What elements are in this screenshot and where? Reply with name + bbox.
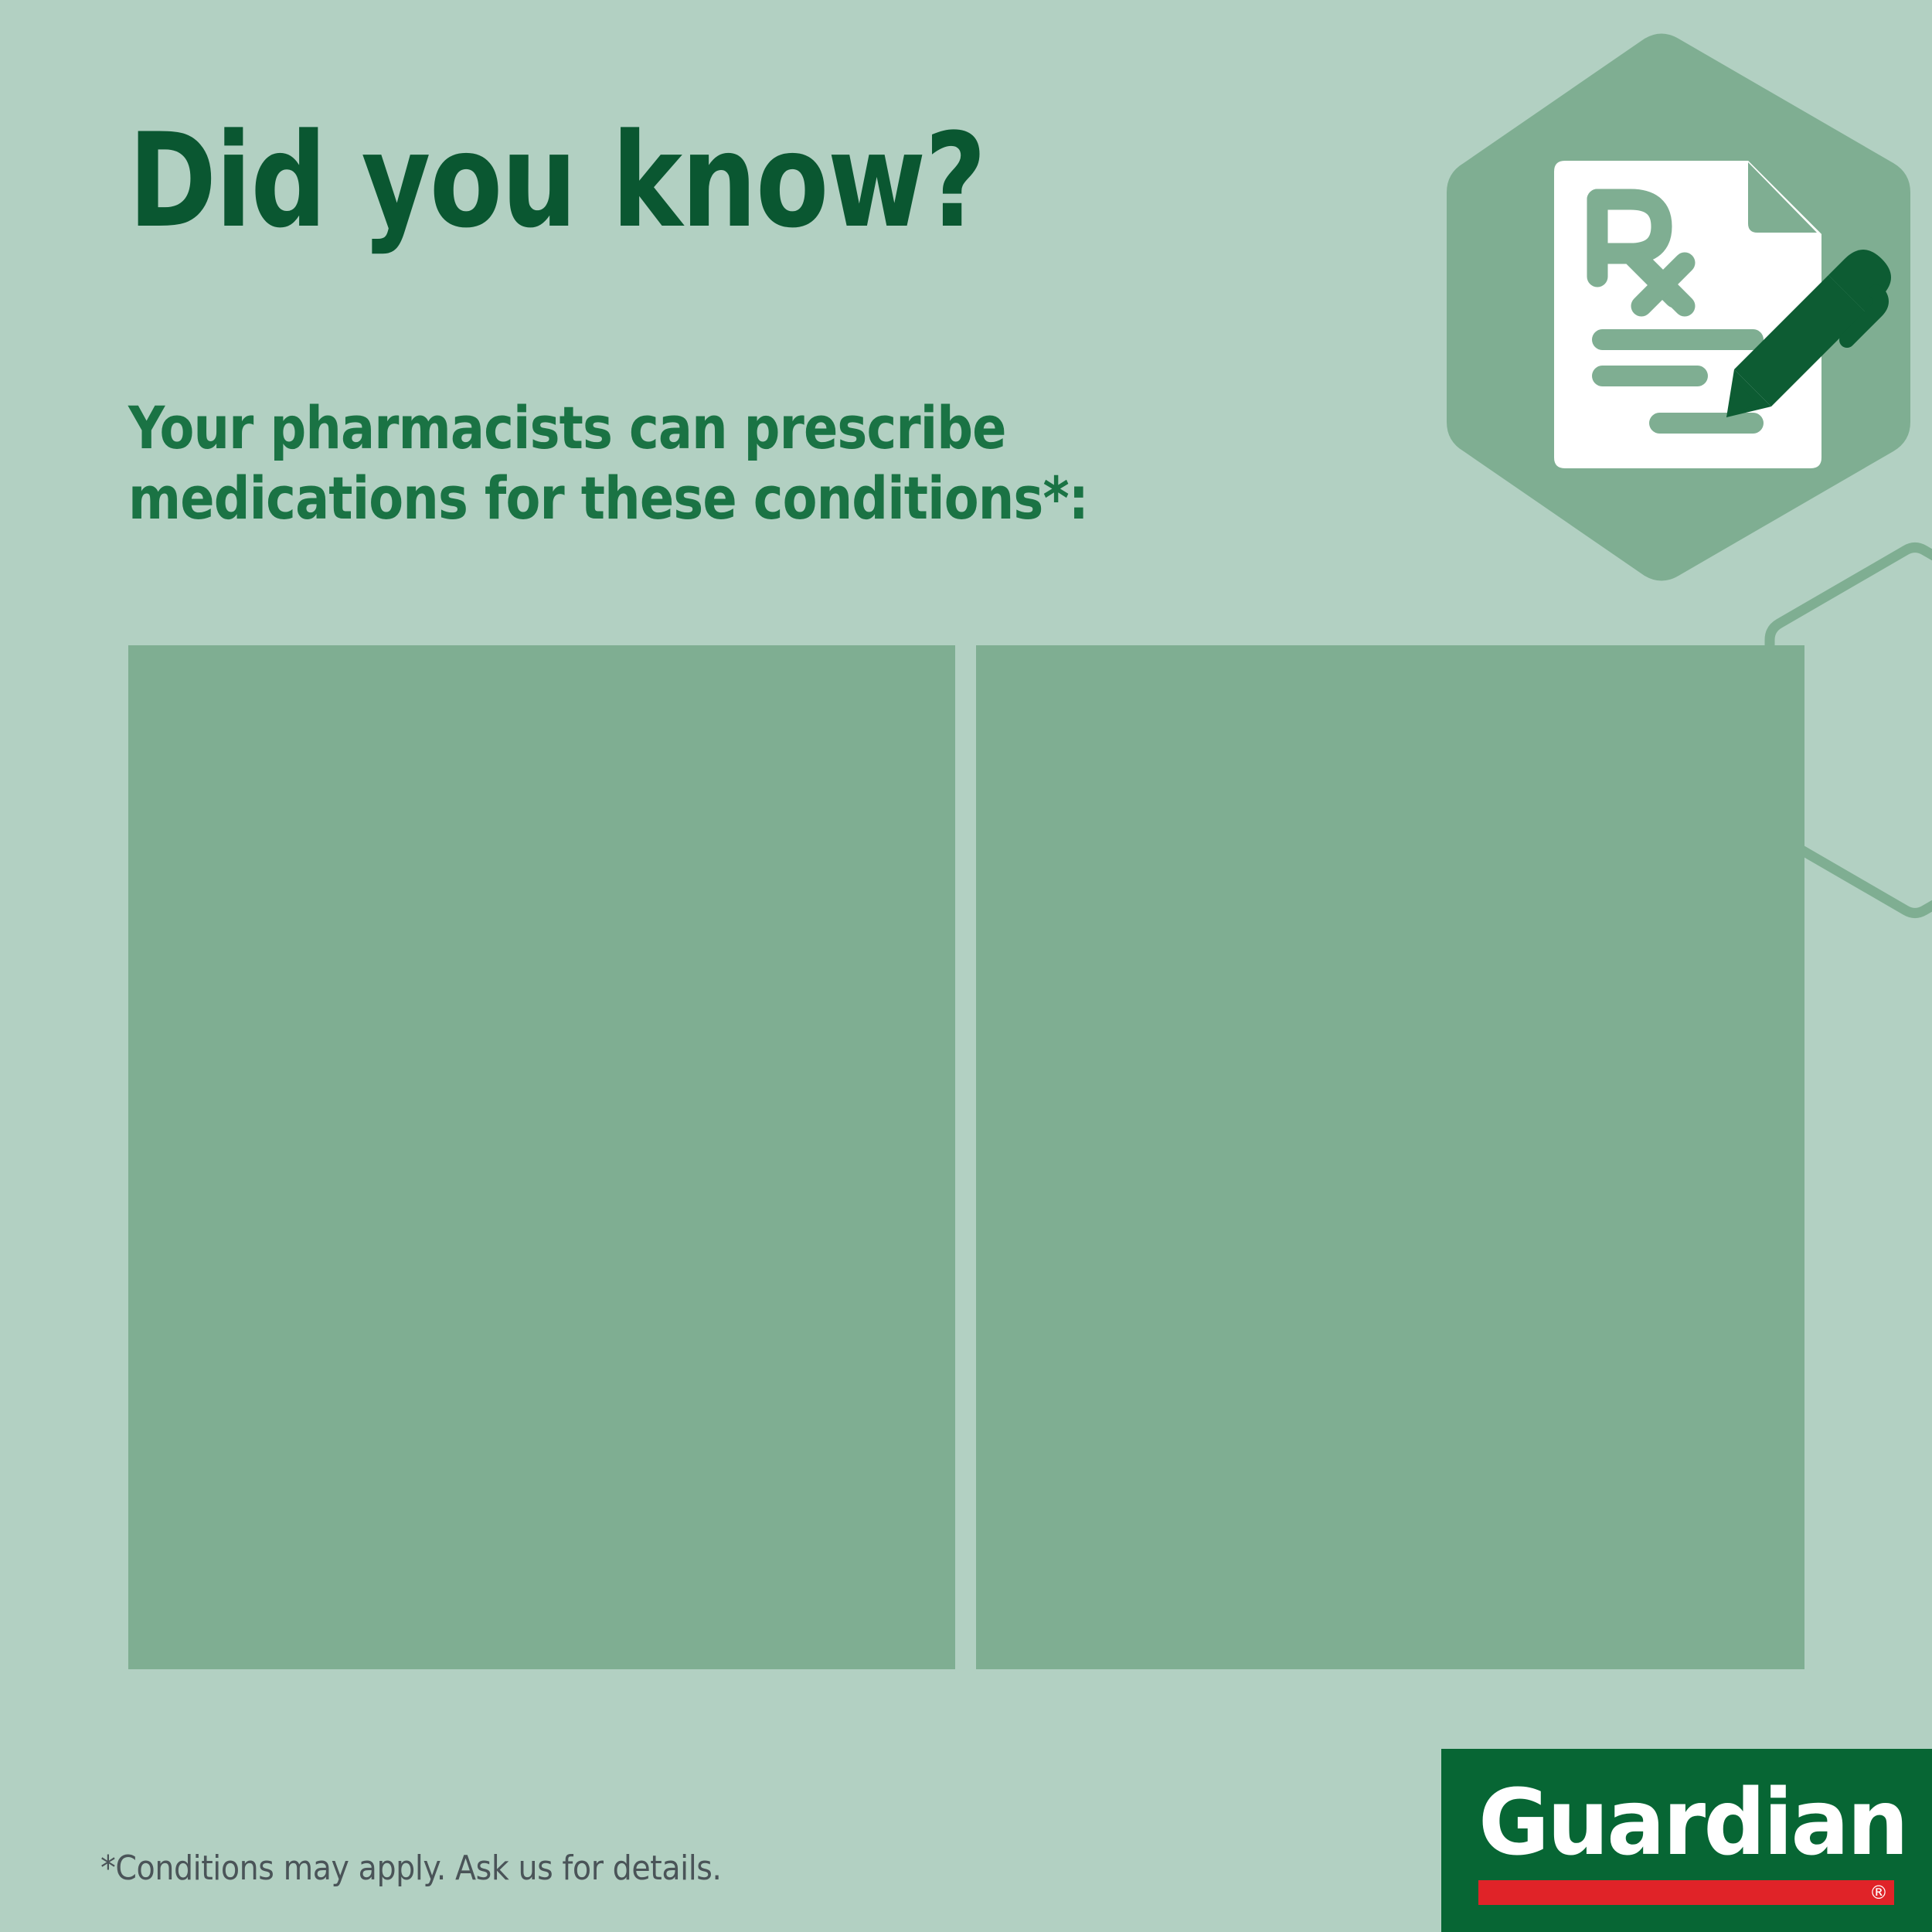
page-title: Did you know? <box>128 116 985 246</box>
prescription-document-with-pen-icon <box>1439 31 1918 583</box>
conditions-panel-right <box>976 645 1804 1669</box>
conditions-panel-left <box>128 645 955 1669</box>
page-subtitle-line-1: Your pharmacists can prescribe <box>128 393 1192 463</box>
footnote-disclaimer: *Conditions may apply. Ask us for detail… <box>100 1849 722 1888</box>
page-subtitle-line-2: medications for these conditions*: <box>128 463 1192 533</box>
guardian-logo-bar: ® <box>1478 1880 1894 1905</box>
registered-trademark-icon: ® <box>1869 1882 1888 1903</box>
guardian-wordmark: Guardian <box>1478 1777 1906 1868</box>
page-subtitle: Your pharmacists can prescribe medicatio… <box>128 393 1192 533</box>
guardian-logo: Guardian ® <box>1441 1749 1932 1932</box>
poster-canvas: Did you know? Your pharmacists can presc… <box>0 0 1932 1932</box>
